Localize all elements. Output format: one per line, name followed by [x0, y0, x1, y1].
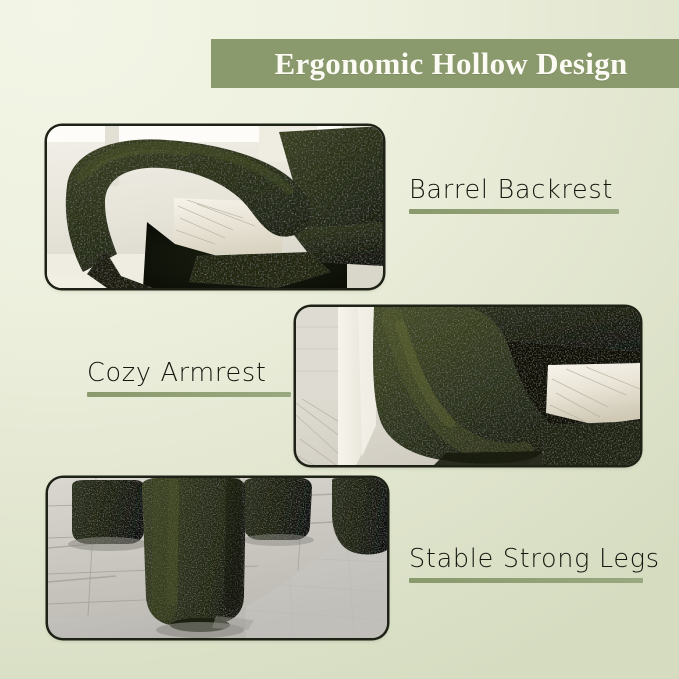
- barrel-backrest-photo: [47, 126, 383, 288]
- cozy-armrest-photo: [296, 307, 640, 465]
- feature-photo-barrel-backrest: [47, 126, 383, 288]
- feature-label-text: Cozy Armrest: [87, 359, 267, 388]
- infographic-canvas: Ergonomic Hollow Design: [0, 0, 679, 679]
- feature-label-text: Stable Strong Legs: [409, 545, 660, 574]
- feature-label-text: Barrel Backrest: [409, 176, 613, 205]
- feature-photo-stable-strong-legs: [48, 478, 387, 638]
- feature-label-cozy-armrest: Cozy Armrest: [87, 359, 291, 397]
- feature-label-stable-strong-legs: Stable Strong Legs: [409, 545, 660, 583]
- feature-label-underline: [87, 392, 291, 397]
- header-banner: Ergonomic Hollow Design: [211, 39, 679, 88]
- feature-photo-cozy-armrest: [296, 307, 640, 465]
- page-title: Ergonomic Hollow Design: [274, 46, 627, 82]
- stable-strong-legs-photo: [48, 478, 387, 638]
- feature-label-barrel-backrest: Barrel Backrest: [409, 176, 619, 214]
- feature-label-underline: [409, 578, 643, 583]
- feature-label-underline: [409, 209, 619, 214]
